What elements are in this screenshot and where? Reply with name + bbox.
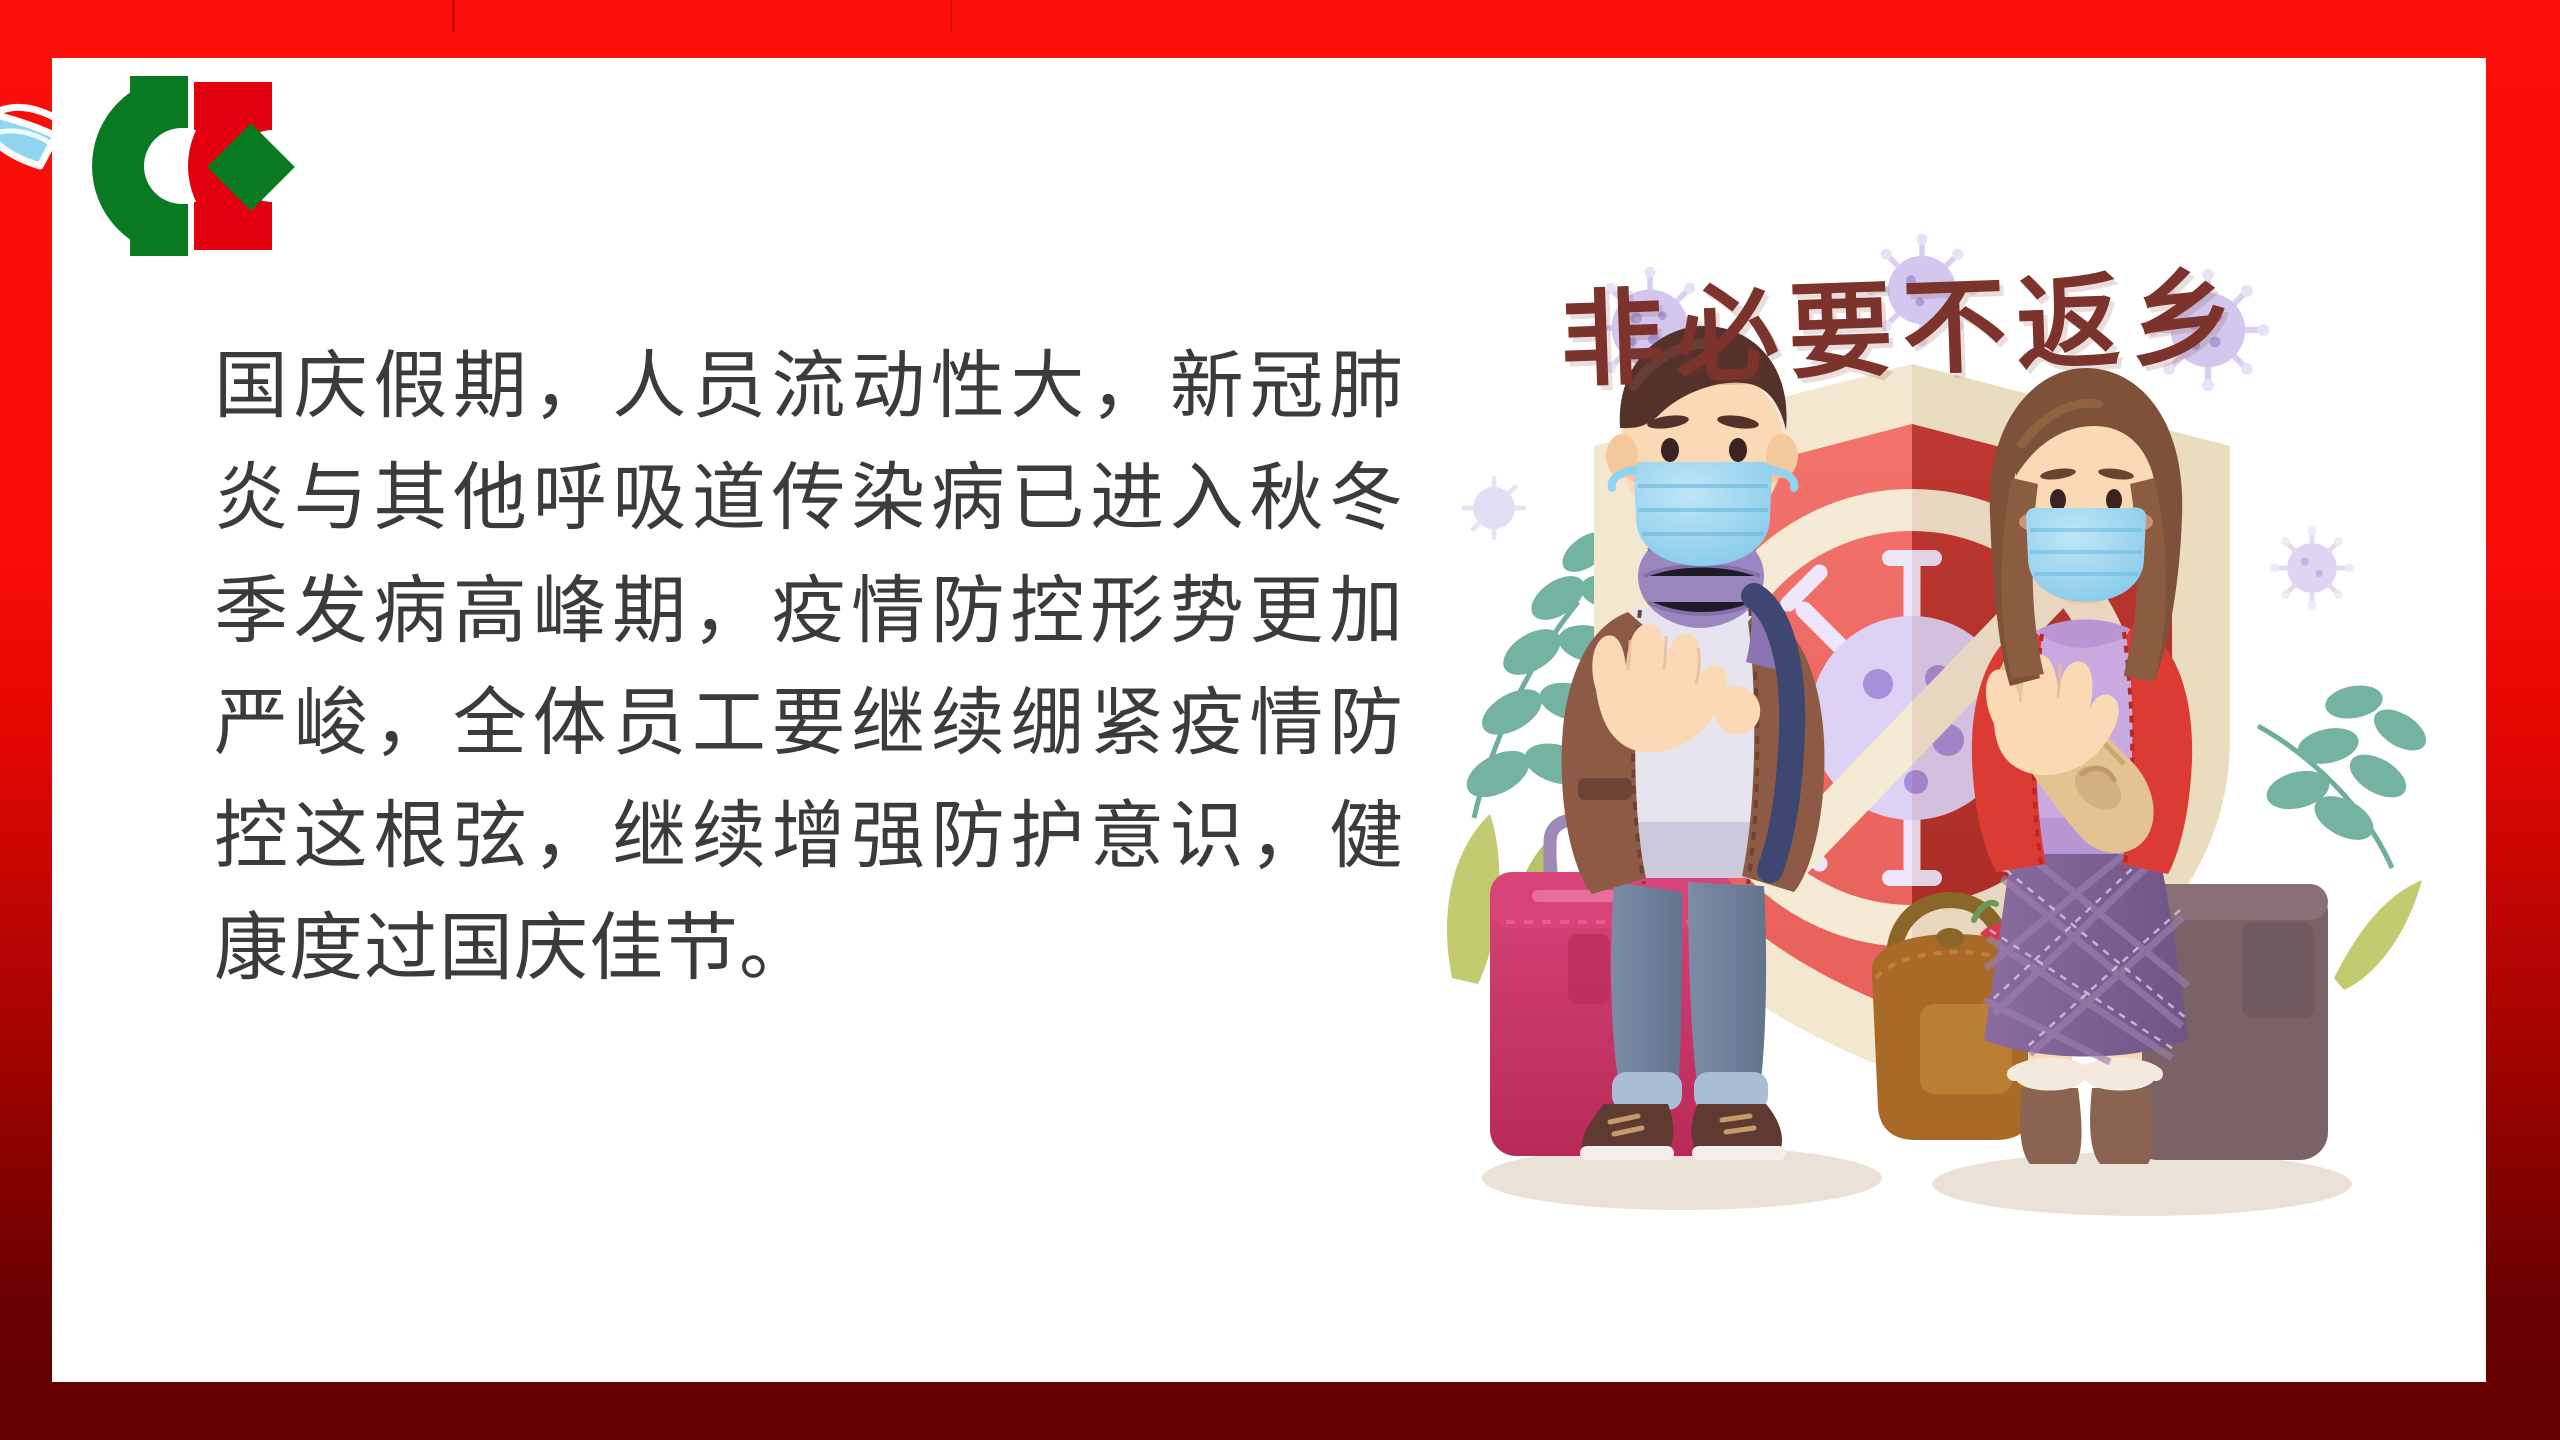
content-card: 国庆假期，人员流动性大，新冠肺炎与其他呼吸道传染病已进入秋冬季发病高峰期，疫情防… [52, 58, 2486, 1382]
body-paragraph: 国庆假期，人员流动性大，新冠肺炎与其他呼吸道传染病已进入秋冬季发病高峰期，疫情防… [214, 330, 1404, 1005]
boot-right [2084, 1065, 2156, 1164]
slide-root: 国庆假期，人员流动性大，新冠肺炎与其他呼吸道传染病已进入秋冬季发病高峰期，疫情防… [0, 0, 2560, 1440]
jacket-pocket [1578, 778, 1632, 800]
illustration-panel: 非必要不返乡 [1382, 178, 2442, 1298]
boot-left [2014, 1065, 2086, 1164]
cc-monogram-logo [72, 68, 354, 266]
face-mask-icon [2026, 507, 2146, 602]
frame-seam-left [452, 0, 455, 32]
masked-man-traveler [1490, 326, 1824, 1160]
frame-seam-right [950, 0, 952, 32]
logo-green-c [92, 76, 188, 256]
shoe-right [1691, 1104, 1786, 1160]
sweater-ribbing [1632, 822, 1762, 878]
